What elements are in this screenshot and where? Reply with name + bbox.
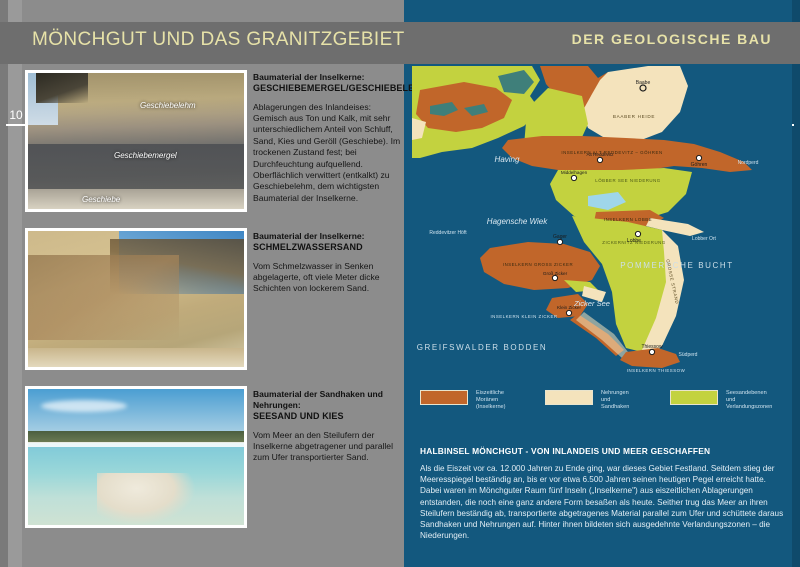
photo-beach-seesand bbox=[25, 386, 247, 528]
text-block-3-body: Vom Meer an den Steilufern der Inselkern… bbox=[253, 430, 405, 464]
legend-label-sand: Nehrungen und Sandhaken bbox=[601, 390, 629, 412]
photo3-clouds bbox=[41, 400, 127, 412]
map-dot-thiessow bbox=[649, 349, 654, 354]
map-legend: Eiszeitliche Moränen (Inselkerne) Nehrun… bbox=[420, 390, 792, 420]
text-block-1-kicker: Baumaterial der Inselkerne: bbox=[253, 72, 405, 83]
page-title-left: MÖNCHGUT UND DAS GRANITZGEBIET bbox=[32, 29, 405, 51]
legend-label-moraine: Eiszeitliche Moränen (Inselkerne) bbox=[476, 390, 506, 412]
photo3-sandspit bbox=[97, 473, 196, 525]
text-block-1-body: Ablagerungen des Inlandeises: Gemisch au… bbox=[253, 102, 405, 205]
text-block-1-heading: GESCHIEBEMERGEL/GESCHIEBELEHM bbox=[253, 83, 405, 95]
map-place-lobbe: Lobbe bbox=[627, 238, 641, 244]
map-label-baaber-heide: BAABER HEIDE bbox=[613, 114, 655, 119]
legend-item-plain: Seesandebenen und Verlandungszonen bbox=[670, 390, 718, 405]
left-page-gutter bbox=[8, 0, 22, 567]
photo2-sand bbox=[28, 348, 244, 367]
legend-item-sand: Nehrungen und Sandhaken bbox=[545, 390, 593, 405]
text-block-seesand-kies: Baumaterial der Sandhaken und Nehrungen:… bbox=[253, 389, 405, 464]
photo2-brush bbox=[28, 255, 179, 339]
text-block-3-heading: SEESAND UND KIES bbox=[253, 411, 405, 423]
map-dot-alt-reddevitz bbox=[597, 157, 602, 162]
legend-item-moraine: Eiszeitliche Moränen (Inselkerne) bbox=[420, 390, 468, 405]
map-label-hagensche-wiek: Hagensche Wiek bbox=[487, 217, 548, 226]
photo-cliff-geschiebemergel-image: Geschiebelehm Geschiebemergel Geschiebe bbox=[28, 73, 244, 209]
legend-swatch-moraine bbox=[420, 390, 468, 405]
bottom-text-heading: HALBINSEL MÖNCHGUT - VON INLANDEIS UND M… bbox=[420, 446, 786, 456]
map-place-reddevitzer-hoeft: Reddevitzer Höft bbox=[429, 230, 467, 236]
text-block-schmelzwassersand: Baumaterial der Inselkerne: SCHMELZWASSE… bbox=[253, 231, 405, 295]
map-place-suedperd: Südperd bbox=[679, 352, 698, 358]
map-dot-lobbe bbox=[635, 231, 640, 236]
text-block-2-heading: SCHMELZWASSERSAND bbox=[253, 242, 405, 254]
photo1-caption-geschiebemergel: Geschiebemergel bbox=[114, 151, 177, 160]
map-label-inselkern-gross-zicker: INSELKERN GROSS ZICKER bbox=[503, 262, 573, 267]
photo1-vegetation bbox=[36, 73, 88, 103]
map-place-middelhagen: Middelhagen bbox=[561, 170, 588, 175]
map-place-nordperd: Nordperd bbox=[738, 160, 759, 166]
map-place-goehren: Göhren bbox=[691, 162, 708, 168]
map-dot-goehren bbox=[696, 155, 701, 160]
map-dot-middelhagen bbox=[571, 175, 576, 180]
legend-swatch-plain bbox=[670, 390, 718, 405]
geological-map-svg: Having Hagensche Wiek POMMERSCHE BUCHT G… bbox=[412, 66, 792, 378]
map-place-lobber-ort: Lobber Ort bbox=[692, 236, 717, 242]
page-title-right: DER GEOLOGISCHE BAU bbox=[572, 31, 772, 47]
photo1-caption-geschiebe: Geschiebe bbox=[82, 195, 120, 204]
photo-cliff-geschiebemergel: Geschiebelehm Geschiebemergel Geschiebe bbox=[25, 70, 247, 212]
legend-swatch-sand bbox=[545, 390, 593, 405]
map-label-inselkern-lobbe: INSELKERN LOBBE bbox=[604, 217, 652, 222]
legend-label-plain: Seesandebenen und Verlandungszonen bbox=[726, 390, 772, 412]
photo1-caption-geschiebelehm: Geschiebelehm bbox=[140, 101, 196, 110]
map-label-having: Having bbox=[495, 155, 520, 164]
right-page-edge bbox=[792, 0, 800, 567]
map-place-alt-reddevitz: Alt Reddevitz bbox=[586, 152, 614, 157]
map-label-loebber-see-niederung: LÖBBER SEE NIEDERUNG bbox=[595, 178, 660, 183]
text-block-2-body: Vom Schmelzwasser in Senken abgelagerte,… bbox=[253, 261, 405, 295]
map-label-pommersche-bucht: POMMERSCHE BUCHT bbox=[620, 261, 734, 270]
photo3-surf bbox=[28, 442, 244, 447]
map-dot-gager bbox=[557, 239, 562, 244]
map-place-klein-zicker: Klein Zicker bbox=[557, 305, 581, 310]
geological-map: Having Hagensche Wiek POMMERSCHE BUCHT G… bbox=[412, 66, 792, 378]
map-label-inselkern-klein-zicker: INSELKERN KLEIN ZICKER bbox=[490, 314, 557, 319]
map-place-thiessow: Thiessow bbox=[641, 344, 663, 350]
spread-page: MÖNCHGUT UND DAS GRANITZGEBIET DER GEOLO… bbox=[0, 0, 800, 567]
photo-beach-seesand-image bbox=[28, 389, 244, 525]
text-block-2-kicker: Baumaterial der Inselkerne: bbox=[253, 231, 405, 242]
text-block-3-kicker: Baumaterial der Sandhaken und Nehrungen: bbox=[253, 389, 405, 411]
map-place-gross-zicker: Groß Zicker bbox=[543, 271, 568, 276]
photo-cliff-schmelzwassersand bbox=[25, 228, 247, 370]
map-dot-gross-zicker bbox=[552, 275, 557, 280]
bottom-text-body: Als die Eiszeit vor ca. 12.000 Jahren zu… bbox=[420, 463, 786, 541]
map-label-greifswalder-bodden: GREIFSWALDER BODDEN bbox=[417, 343, 548, 352]
map-place-gager: Gager bbox=[553, 234, 567, 240]
text-block-geschiebemergel: Baumaterial der Inselkerne: GESCHIEBEMER… bbox=[253, 72, 405, 204]
map-label-inselkern-thiessow: INSELKERN THIESSOW bbox=[627, 368, 686, 373]
page-number-left-rule bbox=[6, 124, 26, 126]
left-page-edge bbox=[0, 0, 8, 567]
bottom-text-block: HALBINSEL MÖNCHGUT - VON INLANDEIS UND M… bbox=[420, 446, 786, 541]
photo1-beach bbox=[28, 189, 244, 209]
map-dot-klein-zicker bbox=[566, 310, 571, 315]
photo-cliff-schmelzwassersand-image bbox=[28, 231, 244, 367]
map-place-baabe: Baabe bbox=[636, 80, 651, 86]
